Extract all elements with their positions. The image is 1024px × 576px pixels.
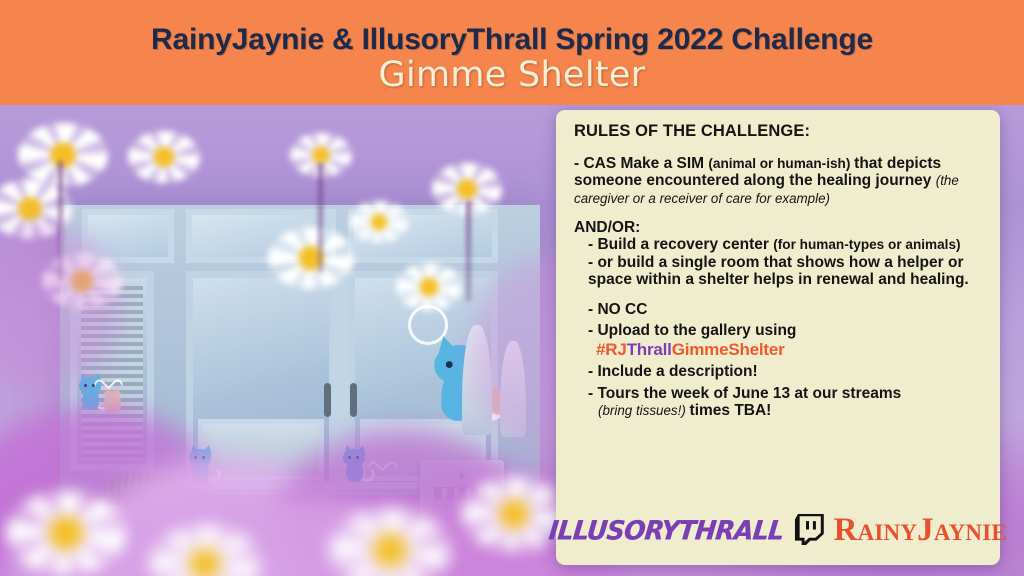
tours-line-2: times TBA! (690, 402, 772, 419)
andor-label: AND/OR: (574, 219, 986, 236)
tours-italic: (bring tissues!) (598, 403, 690, 418)
andor-item-2: - or build a single room that shows how … (574, 254, 986, 289)
andor-item-1-bold: - Build a recovery center (588, 236, 773, 253)
rainyjaynie-logo[interactable]: RainyJaynie (834, 514, 1007, 547)
rules-panel: RULES OF THE CHALLENGE: - CAS Make a SIM… (556, 110, 1000, 565)
page-subtitle: Gimme Shelter (0, 55, 1024, 95)
challenge-hashtag: #RJThrallGimmeShelter (574, 340, 986, 359)
rule-no-cc: - NO CC (574, 301, 986, 318)
rule-description: - Include a description! (574, 363, 986, 380)
illusorythrall-logo[interactable]: ILLUSORYTHRALL (547, 515, 785, 546)
twitch-icon[interactable] (794, 514, 824, 546)
rule-cas-normal-1: (animal or human-ish) (708, 156, 854, 171)
branding-row: ILLUSORYTHRALL RainyJaynie (556, 503, 1000, 557)
tours-line-1: - Tours the week of June 13 at our strea… (574, 385, 986, 402)
rule-upload: - Upload to the gallery using #RJThrallG… (574, 322, 986, 359)
rule-cas-bold-1: - CAS Make a SIM (574, 155, 708, 172)
rule-cas: - CAS Make a SIM (animal or human-ish) t… (574, 155, 986, 207)
rule-tours: - Tours the week of June 13 at our strea… (574, 385, 986, 420)
hashtag-part-2: Thrall (627, 340, 672, 359)
poster-header: RainyJaynie & IllusoryThrall Spring 2022… (0, 0, 1024, 105)
andor-item-1-normal: (for human-types or animals) (773, 237, 960, 252)
description-label: - Include a description! (574, 363, 986, 380)
rule-andor: AND/OR: - Build a recovery center (for h… (574, 219, 986, 288)
upload-label: - Upload to the gallery using (574, 322, 986, 339)
challenge-poster: RainyJaynie & IllusoryThrall Spring 2022… (0, 0, 1024, 576)
page-title: RainyJaynie & IllusoryThrall Spring 2022… (0, 23, 1024, 57)
heart-icon (100, 373, 116, 389)
rules-heading: RULES OF THE CHALLENGE: (574, 122, 986, 141)
no-cc-label: - NO CC (574, 301, 986, 318)
hashtag-part-1: #RJ (596, 340, 627, 359)
hashtag-part-3: GimmeShelter (672, 340, 785, 359)
